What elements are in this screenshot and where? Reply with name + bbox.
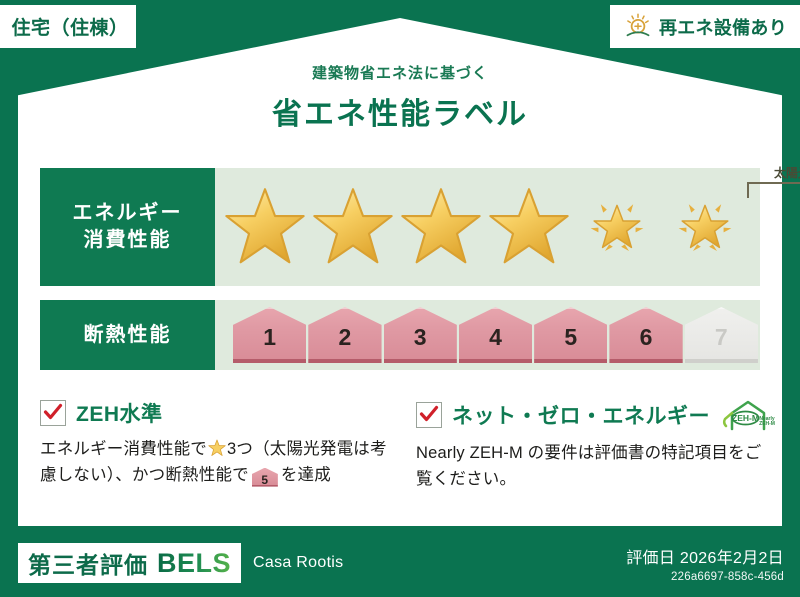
energy-label-line2: 消費性能: [84, 227, 172, 254]
bels-logo-block: 第三者評価 BELS: [18, 543, 241, 583]
energy-performance-label-block: エネルギー 消費性能: [40, 168, 215, 286]
evaluation-date: 評価日 2026年2月2日: [626, 544, 784, 568]
inline-grade-badge: 5: [252, 468, 278, 487]
grade-number: 1: [263, 324, 276, 363]
grade-number: 5: [564, 324, 577, 363]
energy-performance-row: エネルギー 消費性能 太陽光発電(自家消費)分: [40, 168, 760, 286]
footer-bar: 第三者評価 BELS Casa Rootis 評価日 2026年2月2日 226…: [0, 529, 800, 597]
net-zero-energy-checkbox[interactable]: [416, 402, 442, 428]
star-filled-4: [485, 168, 573, 286]
dwelling-type-badge: 住宅（住棟）: [0, 5, 136, 48]
desc-part-1: エネルギー消費性能で: [40, 440, 207, 458]
insulation-grade-4: 4: [459, 307, 532, 363]
desc-part-3: を達成: [281, 466, 331, 484]
zeh-standard-checkbox[interactable]: [40, 400, 66, 426]
energy-performance-label: 住宅（住棟） 再エネ設備あり 建築物省エネ法に基づく 省エネ性能ラベル: [0, 0, 800, 597]
insulation-performance-row: 断熱性能 1 2 3 4: [40, 300, 760, 370]
net-zero-energy-title: ネット・ゼロ・エネルギー: [452, 400, 710, 430]
solar-sun-icon: [623, 12, 653, 42]
criterion-header: ZEH水準: [40, 398, 394, 428]
star-solar-5: [573, 168, 661, 286]
insulation-grade-1: 1: [233, 307, 306, 363]
inline-grade-number: 5: [252, 468, 278, 492]
evaluation-info: 評価日 2026年2月2日 226a6697-858c-456d: [626, 544, 784, 583]
dwelling-type-label: 住宅（住棟）: [11, 13, 128, 40]
grade-number: 2: [339, 324, 352, 363]
insulation-grade-7: 7: [685, 307, 758, 363]
star-rating: [215, 168, 760, 286]
bels-wordmark: BELS: [157, 548, 231, 579]
insulation-grade-6: 6: [609, 307, 682, 363]
project-name: Casa Rootis: [253, 554, 343, 572]
renewable-equipment-label: 再エネ設備あり: [659, 14, 787, 40]
grade-number: 3: [414, 324, 427, 363]
evaluation-id: 226a6697-858c-456d: [626, 571, 784, 583]
grade-number: 7: [715, 324, 728, 363]
insulation-label: 断熱性能: [84, 322, 172, 349]
insulation-grades-area: 1 2 3 4 5: [215, 300, 760, 370]
insulation-grade-2: 2: [308, 307, 381, 363]
star-filled-1: [221, 168, 309, 286]
star-filled-2: [309, 168, 397, 286]
svg-text:ZEH-M: ZEH-M: [732, 413, 759, 423]
renewable-equipment-badge: 再エネ設備あり: [610, 5, 800, 48]
insulation-grade-scale: 1 2 3 4 5: [215, 300, 760, 370]
net-zero-energy-description: Nearly ZEH-M の要件は評価書の特記項目をご覧ください。: [416, 441, 770, 492]
zeh-standard-title: ZEH水準: [76, 398, 163, 428]
star-solar-6: [661, 168, 749, 286]
grade-number: 6: [640, 324, 653, 363]
inline-star-icon: [208, 439, 226, 457]
energy-stars-area: 太陽光発電(自家消費)分: [215, 168, 760, 286]
svg-text:ZEH-M: ZEH-M: [759, 421, 775, 427]
label-subtitle: 建築物省エネ法に基づく: [0, 62, 800, 83]
insulation-grade-3: 3: [384, 307, 457, 363]
criterion-header: ネット・ゼロ・エネルギー ZEH-M Nearly ZEH-M: [416, 398, 770, 432]
criterion-net-zero-energy: ネット・ゼロ・エネルギー ZEH-M Nearly ZEH-M Nearly Z…: [416, 398, 770, 492]
zeh-standard-description: エネルギー消費性能で3つ（太陽光発電は考慮しない）、かつ断熱性能で5を達成: [40, 437, 394, 488]
criterion-zeh-standard: ZEH水準 エネルギー消費性能で3つ（太陽光発電は考慮しない）、かつ断熱性能で5…: [40, 398, 394, 492]
energy-label-line1: エネルギー: [73, 200, 183, 227]
label-title: 省エネ性能ラベル: [0, 89, 800, 133]
third-party-evaluation-label: 第三者評価: [28, 546, 148, 580]
desc-star-count: 3つ（太陽光発電: [227, 440, 353, 458]
grade-number: 4: [489, 324, 502, 363]
insulation-performance-label-block: 断熱性能: [40, 300, 215, 370]
insulation-grade-5: 5: [534, 307, 607, 363]
zeh-m-logo: ZEH-M Nearly ZEH-M: [722, 398, 776, 432]
label-title-block: 建築物省エネ法に基づく 省エネ性能ラベル: [0, 62, 800, 133]
criteria-section: ZEH水準 エネルギー消費性能で3つ（太陽光発電は考慮しない）、かつ断熱性能で5…: [40, 398, 770, 492]
star-filled-3: [397, 168, 485, 286]
